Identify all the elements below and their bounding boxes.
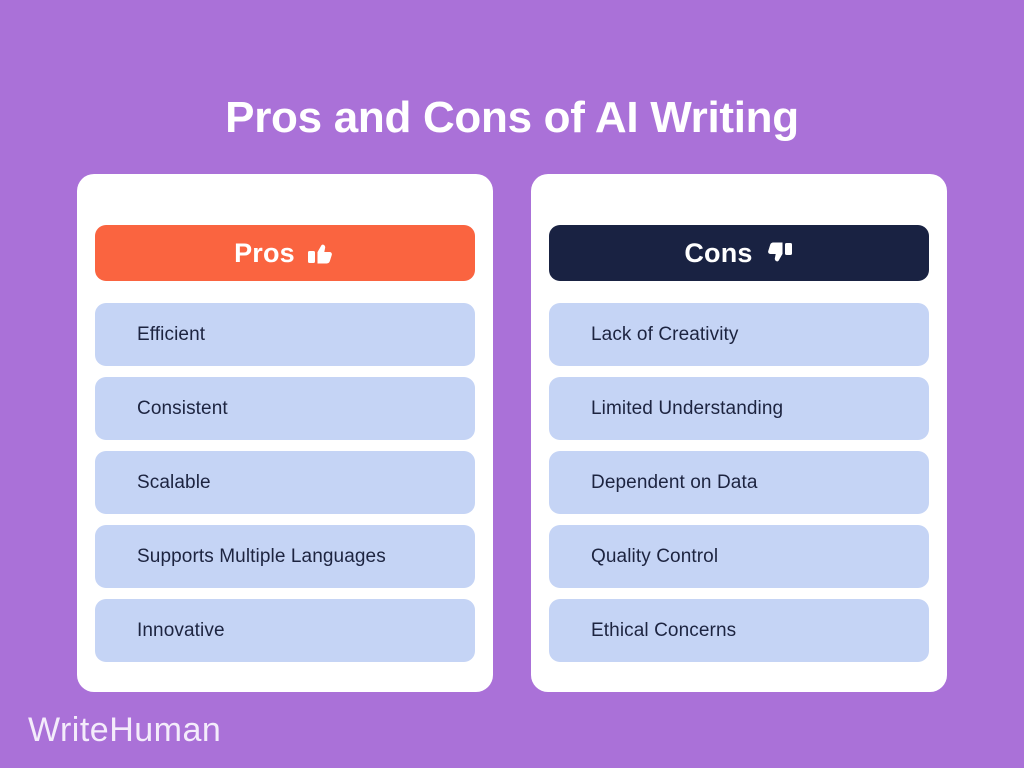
cons-list: Lack of Creativity Limited Understanding… <box>549 303 929 662</box>
pros-list: Efficient Consistent Scalable Supports M… <box>95 303 475 662</box>
list-item: Innovative <box>95 599 475 662</box>
thumbs-up-icon <box>306 238 336 268</box>
page-title: Pros and Cons of AI Writing <box>0 90 1024 146</box>
list-item: Limited Understanding <box>549 377 929 440</box>
comparison-columns: Pros Efficient Consistent Scalable Suppo… <box>77 174 947 692</box>
thumbs-down-icon <box>764 238 794 268</box>
writehuman-logo: WriteHuman <box>28 710 221 750</box>
list-item: Scalable <box>95 451 475 514</box>
list-item: Quality Control <box>549 525 929 588</box>
list-item: Consistent <box>95 377 475 440</box>
pros-card: Pros Efficient Consistent Scalable Suppo… <box>77 174 493 692</box>
list-item: Efficient <box>95 303 475 366</box>
list-item: Ethical Concerns <box>549 599 929 662</box>
pros-header: Pros <box>95 225 475 281</box>
list-item: Dependent on Data <box>549 451 929 514</box>
list-item: Lack of Creativity <box>549 303 929 366</box>
cons-card: Cons Lack of Creativity Limited Understa… <box>531 174 947 692</box>
cons-header: Cons <box>549 225 929 281</box>
pros-header-label: Pros <box>234 238 295 269</box>
cons-header-label: Cons <box>684 238 752 269</box>
list-item: Supports Multiple Languages <box>95 525 475 588</box>
